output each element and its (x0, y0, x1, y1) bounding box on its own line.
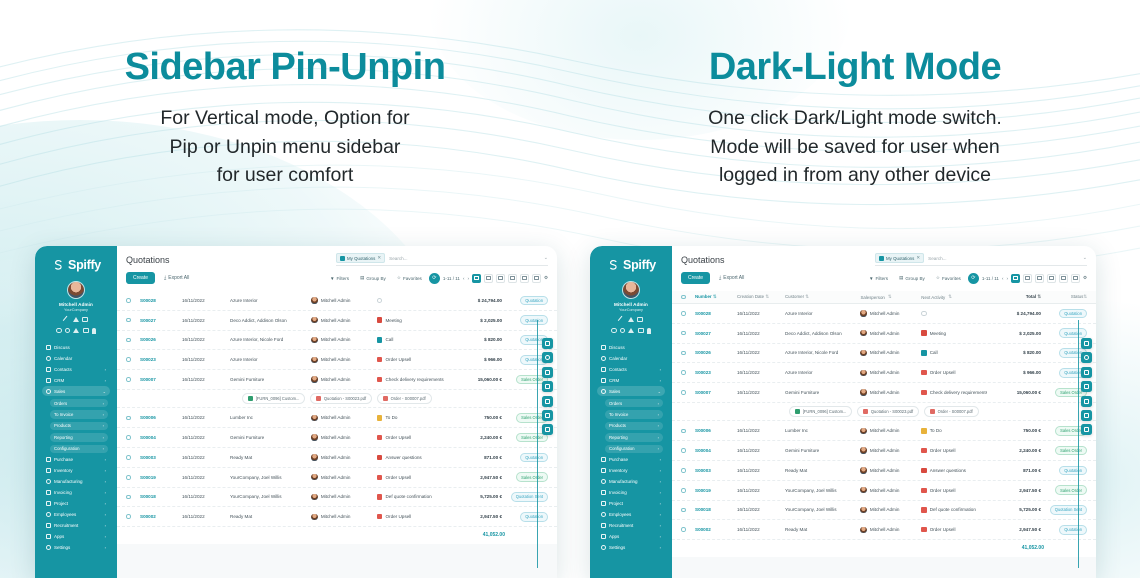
sidebar-item-invoicing[interactable]: Invoicing › (42, 488, 110, 497)
search-bar[interactable]: My Quotations ✕ Search... ⌄ (336, 253, 548, 266)
table-row[interactable]: S00003 16/11/2022 Ready Mat Mitchell Adm… (672, 461, 1096, 481)
sidebar-item-settings[interactable]: Settings › (597, 543, 665, 552)
cell-salesperson: Mitchell Admin (860, 370, 921, 376)
page-heading: Quotations (126, 255, 170, 265)
cell-customer: Gemini Furniture (785, 448, 860, 453)
activity-label: Call (930, 350, 938, 355)
column-label: Next Activity (921, 295, 945, 300)
sidebar-item-sales[interactable]: Sales ⌄ (42, 386, 110, 395)
cell-creation-date: 16/11/2022 (737, 488, 785, 493)
chart-panel-icon[interactable] (542, 424, 553, 435)
sidebar-subitem-configuration[interactable]: Configuration › (605, 445, 663, 454)
purchase-icon (46, 457, 51, 462)
table-row[interactable]: S00002 16/11/2022 Ready Mat Mitchell Adm… (117, 507, 557, 527)
apps-icon (46, 534, 51, 539)
settings-cog-icon[interactable]: ⚙ (544, 275, 548, 281)
sidebar-item-label: Contacts (609, 367, 657, 372)
facet-remove-icon[interactable]: ✕ (916, 255, 920, 261)
image-attachment-icon (248, 396, 253, 402)
recruitment-icon (601, 523, 606, 528)
row-checkbox[interactable] (126, 338, 131, 343)
sidebar-item-employees[interactable]: Employees › (597, 510, 665, 519)
sidebar-item-calendar[interactable]: Calendar (42, 353, 110, 362)
favorites-button[interactable]: ☆ Favorites (393, 273, 426, 283)
contacts-panel-icon[interactable] (542, 396, 553, 407)
panel-divider (1078, 320, 1079, 568)
cell-customer: YourCompany, Joel Willis (230, 494, 311, 499)
kanban-view-icon[interactable] (484, 274, 493, 283)
kanban-view-icon[interactable] (1023, 274, 1032, 283)
notes-panel-icon[interactable] (1081, 410, 1092, 421)
row-checkbox[interactable] (126, 455, 131, 460)
cell-number: S00006 (695, 428, 737, 433)
group-by-button[interactable]: ▤ Group By (895, 273, 929, 283)
cell-number: S00019 (695, 488, 737, 493)
key-alt-icon[interactable] (620, 328, 625, 333)
salesperson-name: Mitchell Admin (321, 298, 351, 303)
cell-customer: Gemini Furniture (230, 435, 311, 440)
chevron-right-icon: › (658, 435, 659, 440)
cell-number: S00003 (695, 468, 737, 473)
sidebar-item-recruitment[interactable]: Recruitment › (597, 521, 665, 530)
todo-icon (377, 415, 382, 420)
sidebar-item-employees[interactable]: Employees › (42, 510, 110, 519)
attachment-label: Quotation - S00023.pdf (871, 409, 913, 414)
sidebar-item-manufacturing[interactable]: Manufacturing › (597, 477, 665, 486)
pivot-view-icon[interactable] (508, 274, 517, 283)
row-checkbox[interactable] (681, 448, 686, 453)
row-checkbox[interactable] (126, 435, 131, 440)
chevron-down-icon[interactable]: ⌄ (1083, 255, 1087, 261)
column-header-status[interactable]: Status ⇅ (1041, 294, 1087, 300)
sidebar-item-project[interactable]: Project › (42, 499, 110, 508)
sidebar-item-sales[interactable]: Sales ⌄ (597, 386, 665, 395)
key-icon[interactable] (611, 328, 616, 333)
sidebar-subitem-to-invoice[interactable]: To Invoice › (605, 410, 663, 419)
salesperson-name: Mitchell Admin (321, 475, 351, 480)
calendar-view-icon[interactable] (1035, 274, 1044, 283)
attachment-label: Order - S00007.pdf (938, 409, 973, 414)
table-row[interactable]: S00028 16/11/2022 Azure Interior Mitchel… (117, 291, 557, 311)
grid-icon[interactable] (82, 317, 88, 322)
chart-panel-icon[interactable] (1081, 424, 1092, 435)
check-icon (921, 390, 926, 395)
cell-total: 2,240.00 € (448, 435, 502, 440)
row-checkbox[interactable] (681, 508, 686, 513)
sidebar-item-crm[interactable]: CRM › (597, 375, 665, 384)
lock-icon[interactable] (638, 328, 644, 333)
activity-label: Answer questions (930, 468, 966, 473)
cell-next-activity: Order Upsell (921, 527, 987, 532)
subtitle-left-line-3: for user comfort (0, 161, 570, 190)
sidebar-item-discuss[interactable]: Discuss (42, 343, 110, 352)
chevron-right-icon: › (103, 401, 104, 406)
sidebar-subitem-reporting[interactable]: Reporting › (605, 433, 663, 442)
sidebar-item-label: Discuss (54, 345, 103, 350)
row-checkbox[interactable] (681, 527, 686, 532)
cell-next-activity: Order Upsell (921, 448, 987, 453)
row-checkbox[interactable] (681, 311, 686, 316)
contacts-panel-icon[interactable] (1081, 396, 1092, 407)
sidebar-subitem-label: To Invoice (54, 412, 103, 417)
column-header-total[interactable]: Total ⇅ (987, 294, 1041, 300)
wrench-icon[interactable] (618, 315, 626, 323)
pin-icon[interactable] (92, 328, 96, 334)
prev-page-button[interactable]: ‹ (1002, 276, 1004, 281)
sidebar-item-settings[interactable]: Settings › (42, 543, 110, 552)
avatar[interactable] (622, 281, 640, 299)
cell-number: S00027 (140, 318, 182, 323)
status-badge: Quotation (1059, 466, 1087, 476)
cell-salesperson: Mitchell Admin (860, 389, 921, 395)
upsell-icon (921, 448, 926, 453)
row-checkbox[interactable] (681, 429, 686, 434)
attachment-label: Quotation - S00023.pdf (324, 396, 366, 401)
cell-customer: Ready Mat (230, 455, 311, 460)
table-row[interactable]: S00018 16/11/2022 YourCompany, Joel Will… (672, 501, 1096, 521)
graph-view-icon[interactable] (520, 274, 529, 283)
sidebar-item-discuss[interactable]: Discuss (597, 343, 665, 352)
pdf-attachment-icon (863, 409, 868, 415)
cell-total: 2,947.50 € (987, 527, 1041, 532)
search-facet-my-quotations[interactable]: My Quotations ✕ (875, 253, 924, 263)
apps-grid-icon[interactable] (542, 367, 553, 378)
sidebar-subitem-products[interactable]: Products › (605, 422, 663, 431)
settings-gear-icon[interactable] (1081, 338, 1092, 349)
row-checkbox[interactable] (681, 351, 686, 356)
favorites-button[interactable]: ☆ Favorites (932, 273, 965, 283)
subtitle-right-line-2: Mode will be saved for user when (570, 133, 1140, 162)
table-row[interactable]: S00027 16/11/2022 Deco Addict, Addison O… (672, 324, 1096, 344)
salesperson-avatar (311, 454, 317, 460)
table-row[interactable]: S00026 16/11/2022 Azure Interior, Nicole… (117, 331, 557, 351)
select-all-checkbox[interactable] (681, 295, 686, 300)
main-content: Quotations My Quotations ✕ Search... ⌄ C… (117, 246, 557, 578)
activity-label: Order Upsell (385, 514, 411, 519)
brand[interactable]: Spiffy (51, 258, 101, 272)
sidebar-subitem-label: Orders (54, 401, 103, 406)
salesperson-name: Mitchell Admin (870, 468, 900, 473)
user-role: YourCompany (619, 308, 643, 312)
salesperson-name: Mitchell Admin (870, 527, 900, 532)
cell-salesperson: Mitchell Admin (311, 317, 377, 323)
row-checkbox[interactable] (126, 475, 131, 480)
row-checkbox[interactable] (126, 318, 131, 323)
table-row[interactable]: S00004 16/11/2022 Gemini Furniture Mitch… (672, 441, 1096, 461)
sidebar-item-project[interactable]: Project › (597, 499, 665, 508)
activity-view-icon[interactable] (532, 274, 541, 283)
row-checkbox[interactable] (681, 390, 686, 395)
row-checkbox[interactable] (681, 331, 686, 336)
salesperson-avatar (860, 467, 866, 473)
key-alt-icon[interactable] (65, 328, 70, 333)
calendar-panel-icon[interactable] (542, 381, 553, 392)
sidebar-item-apps[interactable]: Apps › (42, 532, 110, 541)
cell-creation-date: 16/11/2022 (737, 350, 785, 355)
list-view-icon[interactable] (1011, 274, 1020, 283)
pivot-view-icon[interactable] (1047, 274, 1056, 283)
sidebar-item-label: Inventory (609, 468, 657, 473)
cell-total: 2,947.50 € (448, 514, 502, 519)
row-checkbox[interactable] (681, 488, 686, 493)
page-title-left: Sidebar Pin-Unpin (0, 46, 570, 89)
filters-label: Filters (337, 276, 350, 281)
purchase-icon (601, 457, 606, 462)
cell-customer: Azure Interior, Nicole Ford (230, 337, 311, 342)
quick-icons-row-1 (64, 317, 88, 323)
panel-divider (537, 320, 538, 568)
table-row[interactable]: S00023 16/11/2022 Azure Interior Mitchel… (672, 363, 1096, 383)
row-checkbox[interactable] (681, 370, 686, 375)
chevron-icon: › (660, 479, 661, 484)
crm-icon (46, 378, 51, 383)
salesperson-avatar (860, 447, 866, 453)
page-heading: Quotations (681, 255, 725, 265)
sort-icon: ⇅ (713, 294, 717, 299)
facet-remove-icon[interactable]: ✕ (377, 255, 381, 261)
table-row[interactable]: S00006 16/11/2022 Lumber Inc Mitchell Ad… (117, 408, 557, 428)
table-row[interactable]: S00019 16/11/2022 YourCompany, Joel Will… (117, 468, 557, 488)
cell-creation-date: 16/11/2022 (737, 507, 785, 512)
bell-icon[interactable] (628, 317, 634, 322)
table-row[interactable]: S00004 16/11/2022 Gemini Furniture Mitch… (117, 428, 557, 448)
row-checkbox[interactable] (126, 416, 131, 421)
salesperson-name: Mitchell Admin (321, 337, 351, 342)
table-row[interactable]: S00023 16/11/2022 Azure Interior Mitchel… (117, 350, 557, 370)
chevron-icon: › (105, 468, 106, 473)
table-row[interactable]: S00018 16/11/2022 YourCompany, Joel Will… (117, 488, 557, 508)
attachment-chip[interactable]: [FURN_0096] Custom... (789, 406, 852, 417)
notes-panel-icon[interactable] (542, 410, 553, 421)
status-badge: Quotation (1059, 328, 1087, 338)
cell-next-activity: To Do (921, 428, 987, 433)
next-page-button[interactable]: › (467, 276, 469, 281)
sidebar-item-inventory[interactable]: Inventory › (597, 466, 665, 475)
pager-text: 1-11 / 11 (443, 276, 460, 281)
sidebar-item-invoicing[interactable]: Invoicing › (597, 488, 665, 497)
cell-total: 871.00 € (448, 455, 502, 460)
sidebar-subitem-products[interactable]: Products › (50, 422, 108, 431)
cell-next-activity: Order Upsell (921, 370, 987, 375)
export-all-button[interactable]: ⤓ Export All (714, 272, 749, 284)
wrench-icon[interactable] (63, 315, 71, 323)
sidebar-item-apps[interactable]: Apps › (597, 532, 665, 541)
sidebar-item-contacts[interactable]: Contacts › (42, 364, 110, 373)
table-row[interactable]: S00007 16/11/2022 Gemini Furniture Mitch… (117, 370, 557, 390)
cell-total: 750.00 € (448, 415, 502, 420)
search-panel-icon[interactable] (1081, 352, 1092, 363)
row-checkbox[interactable] (126, 357, 131, 362)
chevron-icon: › (660, 367, 661, 372)
list-view-icon[interactable] (472, 274, 481, 283)
column-header-next-activity[interactable]: Next Activity ⇅ (921, 294, 987, 300)
chevron-icon: › (660, 457, 661, 462)
chevron-down-icon[interactable]: ⌄ (544, 255, 548, 261)
sidebar-item-contacts[interactable]: Contacts › (597, 364, 665, 373)
refresh-button[interactable]: ⟳ (429, 273, 440, 284)
filters-button[interactable]: ▼ Filters (326, 274, 353, 283)
cell-creation-date: 16/11/2022 (737, 311, 785, 316)
sidebar-item-label: Inventory (54, 468, 102, 473)
sidebar-item-label: CRM (609, 378, 657, 383)
calendar-panel-icon[interactable] (1081, 381, 1092, 392)
sidebar-subitem-label: Products (609, 423, 658, 428)
cell-creation-date: 16/11/2022 (737, 468, 785, 473)
column-header-salesperson[interactable]: Salesperson ⇅ (860, 294, 921, 300)
groupby-label: Group By (366, 276, 385, 281)
salesperson-name: Mitchell Admin (870, 311, 900, 316)
attachment-chip[interactable]: [FURN_0096] Custom... (242, 393, 305, 404)
apps-icon (601, 534, 606, 539)
answer-icon (377, 455, 382, 460)
column-label: Total (1026, 294, 1036, 299)
sidebar-item-purchase[interactable]: Purchase › (597, 455, 665, 464)
image-attachment-icon (795, 409, 800, 415)
sidebar-item-calendar[interactable]: Calendar (597, 353, 665, 362)
group-by-button[interactable]: ▤ Group By (356, 273, 390, 283)
settings-cog-icon[interactable]: ⚙ (1083, 275, 1087, 281)
lock-icon[interactable] (83, 328, 89, 333)
settings-gear-icon[interactable] (542, 338, 553, 349)
calendar-view-icon[interactable] (496, 274, 505, 283)
table-row[interactable]: S00003 16/11/2022 Ready Mat Mitchell Adm… (117, 448, 557, 468)
chevron-icon: › (660, 501, 661, 506)
cell-number: S00028 (695, 311, 737, 316)
cell-number: S00023 (695, 370, 737, 375)
sidebar-subitem-reporting[interactable]: Reporting › (50, 433, 108, 442)
cell-customer: Deco Addict, Addison Olson (785, 331, 860, 336)
sidebar-item-label: Recruitment (609, 523, 657, 528)
graph-view-icon[interactable] (1059, 274, 1068, 283)
salesperson-avatar (860, 370, 866, 376)
salesperson-avatar (860, 487, 866, 493)
cell-number: S00028 (140, 298, 182, 303)
column-header-customer[interactable]: Customer ⇅ (785, 294, 860, 300)
cell-next-activity (377, 298, 448, 303)
sidebar-item-label: Apps (54, 534, 102, 539)
table-row[interactable]: S00027 16/11/2022 Deco Addict, Addison O… (117, 311, 557, 331)
sidebar-item-manufacturing[interactable]: Manufacturing › (42, 477, 110, 486)
avatar[interactable] (67, 281, 85, 299)
cell-total: $ 820.00 (987, 350, 1041, 355)
sidebar-item-purchase[interactable]: Purchase › (42, 455, 110, 464)
attachment-chip[interactable]: Quotation - S00023.pdf (310, 393, 372, 404)
sidebar-subitem-to-invoice[interactable]: To Invoice › (50, 410, 108, 419)
attachment-chip[interactable]: Order - S00007.pdf (924, 406, 978, 417)
row-checkbox[interactable] (126, 377, 131, 382)
sidebar-item-crm[interactable]: CRM › (42, 375, 110, 384)
search-input[interactable]: Search... (389, 256, 407, 261)
sidebar-item-inventory[interactable]: Inventory › (42, 466, 110, 475)
salesperson-name: Mitchell Admin (870, 488, 900, 493)
next-page-button[interactable]: › (1006, 276, 1008, 281)
settings-icon (601, 545, 606, 550)
pin-icon[interactable] (647, 328, 651, 334)
table-row[interactable]: S00026 16/11/2022 Azure Interior, Nicole… (672, 344, 1096, 364)
facet-icon (340, 256, 345, 261)
sidebar-subitem-configuration[interactable]: Configuration › (50, 445, 108, 454)
salesperson-name: Mitchell Admin (870, 350, 900, 355)
column-header-number[interactable]: Number ⇅ (695, 294, 737, 300)
contacts-icon (46, 367, 51, 372)
sidebar-subitem-orders[interactable]: Orders › (50, 399, 108, 408)
upsell-icon (921, 370, 926, 375)
filter-icon[interactable] (628, 328, 634, 333)
column-header-creation-date[interactable]: Creation Date ⇅ (737, 294, 785, 300)
sidebar-item-label: Calendar (609, 356, 658, 361)
sidebar-item-recruitment[interactable]: Recruitment › (42, 521, 110, 530)
table-row[interactable]: S00006 16/11/2022 Lumber Inc Mitchell Ad… (672, 421, 1096, 441)
filter-icon[interactable] (73, 328, 79, 333)
row-checkbox[interactable] (126, 495, 131, 500)
prev-page-button[interactable]: ‹ (463, 276, 465, 281)
facet-label: My Quotations (347, 256, 375, 261)
chevron-icon: › (105, 545, 106, 550)
cell-next-activity: Call (377, 337, 448, 342)
chevron-right-icon: › (103, 412, 104, 417)
table-body: Number ⇅ Creation Date ⇅ Customer ⇅ Sale… (672, 291, 1096, 578)
table-row[interactable]: S00007 16/11/2022 Gemini Furniture Mitch… (672, 383, 1096, 403)
cell-number: S00007 (695, 390, 737, 395)
cell-number: S00004 (695, 448, 737, 453)
create-button[interactable]: Create (681, 272, 710, 284)
attachment-chip[interactable]: Quotation - S00023.pdf (857, 406, 919, 417)
cell-total: 871.00 € (987, 468, 1041, 473)
subtitle-right-line-1: One click Dark/Light mode switch. (570, 104, 1140, 133)
sidebar-item-label: CRM (54, 378, 102, 383)
filters-button[interactable]: ▼ Filters (865, 274, 892, 283)
invoicing-icon (46, 490, 51, 495)
subtitle-left: For Vertical mode, Option for Pip or Unp… (0, 104, 570, 190)
search-panel-icon[interactable] (542, 352, 553, 363)
cell-creation-date: 16/11/2022 (182, 318, 230, 323)
row-checkbox[interactable] (126, 298, 131, 303)
refresh-button[interactable]: ⟳ (968, 273, 979, 284)
export-all-button[interactable]: ⤓ Export All (159, 272, 194, 284)
brand-name: Spiffy (623, 258, 656, 272)
invoicing-icon (601, 490, 606, 495)
cell-total: 5,725.00 € (987, 507, 1041, 512)
activity-view-icon[interactable] (1071, 274, 1080, 283)
sidebar-subitem-orders[interactable]: Orders › (605, 399, 663, 408)
attachment-chip[interactable]: Order - S00007.pdf (377, 393, 431, 404)
table-row[interactable]: S00028 16/11/2022 Azure Interior Mitchel… (672, 304, 1096, 324)
brand[interactable]: Spiffy (606, 258, 656, 272)
bell-icon[interactable] (73, 317, 79, 322)
meeting-icon (921, 330, 926, 335)
grid-icon[interactable] (637, 317, 643, 322)
search-facet-my-quotations[interactable]: My Quotations ✕ (336, 253, 385, 263)
table-row[interactable]: S00002 16/11/2022 Ready Mat Mitchell Adm… (672, 520, 1096, 540)
key-icon[interactable] (56, 328, 61, 333)
search-bar[interactable]: My Quotations ✕ Search... ⌄ (875, 253, 1087, 266)
row-checkbox[interactable] (681, 468, 686, 473)
cell-creation-date: 16/11/2022 (737, 370, 785, 375)
row-checkbox[interactable] (126, 514, 131, 519)
create-button[interactable]: Create (126, 272, 155, 284)
cell-next-activity: Call (921, 350, 987, 355)
sidebar-item-label: Settings (609, 545, 657, 550)
cell-customer: Ready Mat (785, 527, 860, 532)
status-badge: Quotation Sent (1050, 505, 1087, 515)
status-badge: Quotation (1059, 309, 1087, 319)
apps-grid-icon[interactable] (1081, 367, 1092, 378)
table-row[interactable]: S00019 16/11/2022 YourCompany, Joel Will… (672, 481, 1096, 501)
answer-icon (921, 468, 926, 473)
no-activity-icon (921, 311, 926, 316)
cell-status: Quotation (502, 453, 548, 463)
search-input[interactable]: Search... (928, 256, 946, 261)
